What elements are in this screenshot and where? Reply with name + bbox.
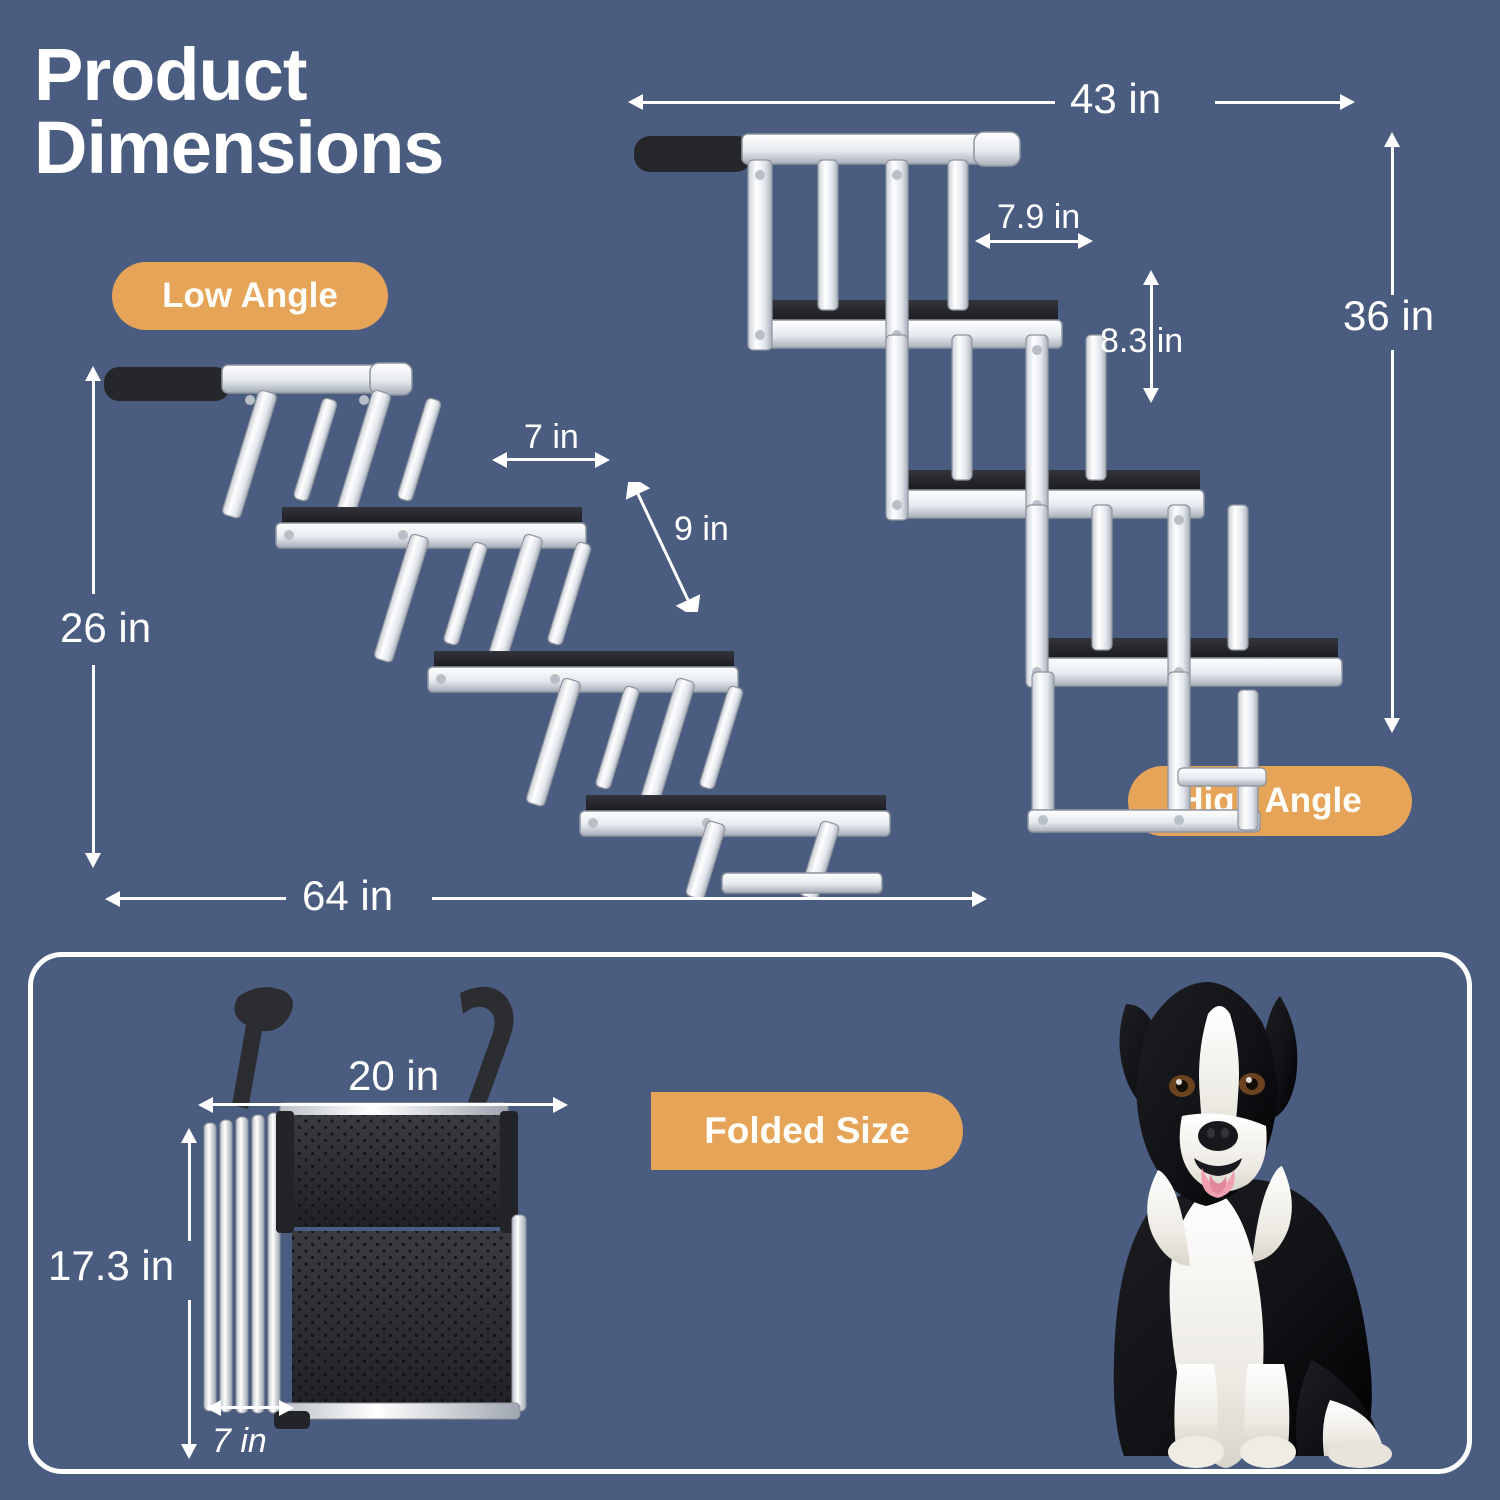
dimension-high-angle-tread-label: 7.9 in	[997, 198, 1080, 237]
dimension-folded-height-label: 17.3 in	[48, 1242, 174, 1290]
dimension-low-angle-width-label: 64 in	[302, 872, 393, 920]
dog-photo	[1030, 960, 1450, 1472]
dimension-low-angle-height-label: 26 in	[60, 604, 151, 652]
product-render-folded	[160, 975, 630, 1455]
badge-folded-size: Folded Size	[651, 1092, 963, 1170]
dimension-high-angle-rise-label: 8.3 in	[1100, 322, 1183, 361]
page-title: Product Dimensions	[34, 38, 594, 185]
dimension-low-angle-rise: 9 in	[626, 482, 746, 612]
infographic-canvas: Product Dimensions Low Angle High Angle	[0, 0, 1500, 1500]
dimension-folded-depth-label: 7 in	[212, 1422, 267, 1461]
dimension-high-angle-height-label: 36 in	[1343, 292, 1434, 340]
page-title-line-2: Dimensions	[34, 111, 594, 184]
dimension-high-angle-width-label: 43 in	[1070, 75, 1161, 123]
badge-low-angle-label: Low Angle	[162, 276, 338, 316]
badge-folded-size-label: Folded Size	[704, 1110, 910, 1152]
page-title-line-1: Product	[34, 33, 307, 116]
dimension-low-angle-rise-label: 9 in	[674, 510, 729, 549]
dimension-low-angle-tread-label: 7 in	[524, 418, 579, 457]
badge-low-angle: Low Angle	[112, 262, 388, 330]
dimension-folded-width-label: 20 in	[348, 1052, 439, 1100]
